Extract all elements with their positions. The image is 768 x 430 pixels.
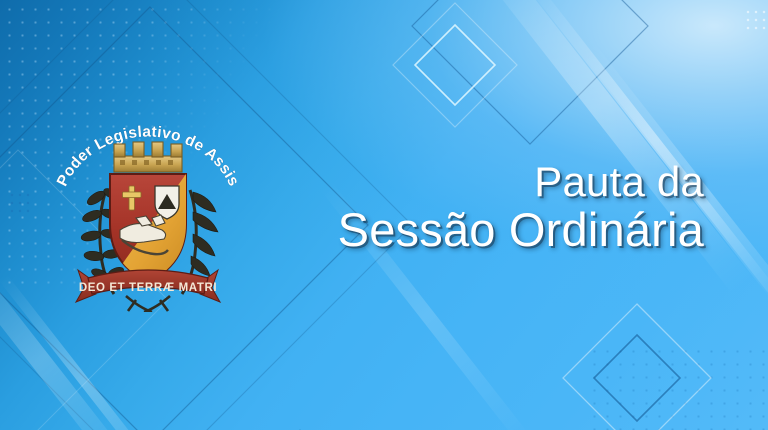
- diamond-bottom-right-outer: [563, 304, 711, 430]
- crossed-stalks-base: [126, 296, 170, 312]
- mural-crown-icon: [114, 142, 182, 172]
- title-line-one: Pauta da: [338, 160, 704, 204]
- coat-of-arms-assis: Poder Legislativo de Assis: [48, 112, 248, 312]
- diamond-top-center-inner: [415, 25, 495, 105]
- emblem-motto-text: DEO ET TERRÆ MATRI: [79, 282, 217, 294]
- title-line-two: Sessão Ordinária: [338, 206, 704, 255]
- diamond-bottom-right-inner: [594, 335, 680, 421]
- session-agenda-banner: Poder Legislativo de Assis: [0, 0, 768, 430]
- diamond-top-center-outer: [393, 3, 517, 127]
- mountain-inescutcheon-icon: [155, 186, 179, 219]
- banner-title: Pauta da Sessão Ordinária: [338, 160, 704, 255]
